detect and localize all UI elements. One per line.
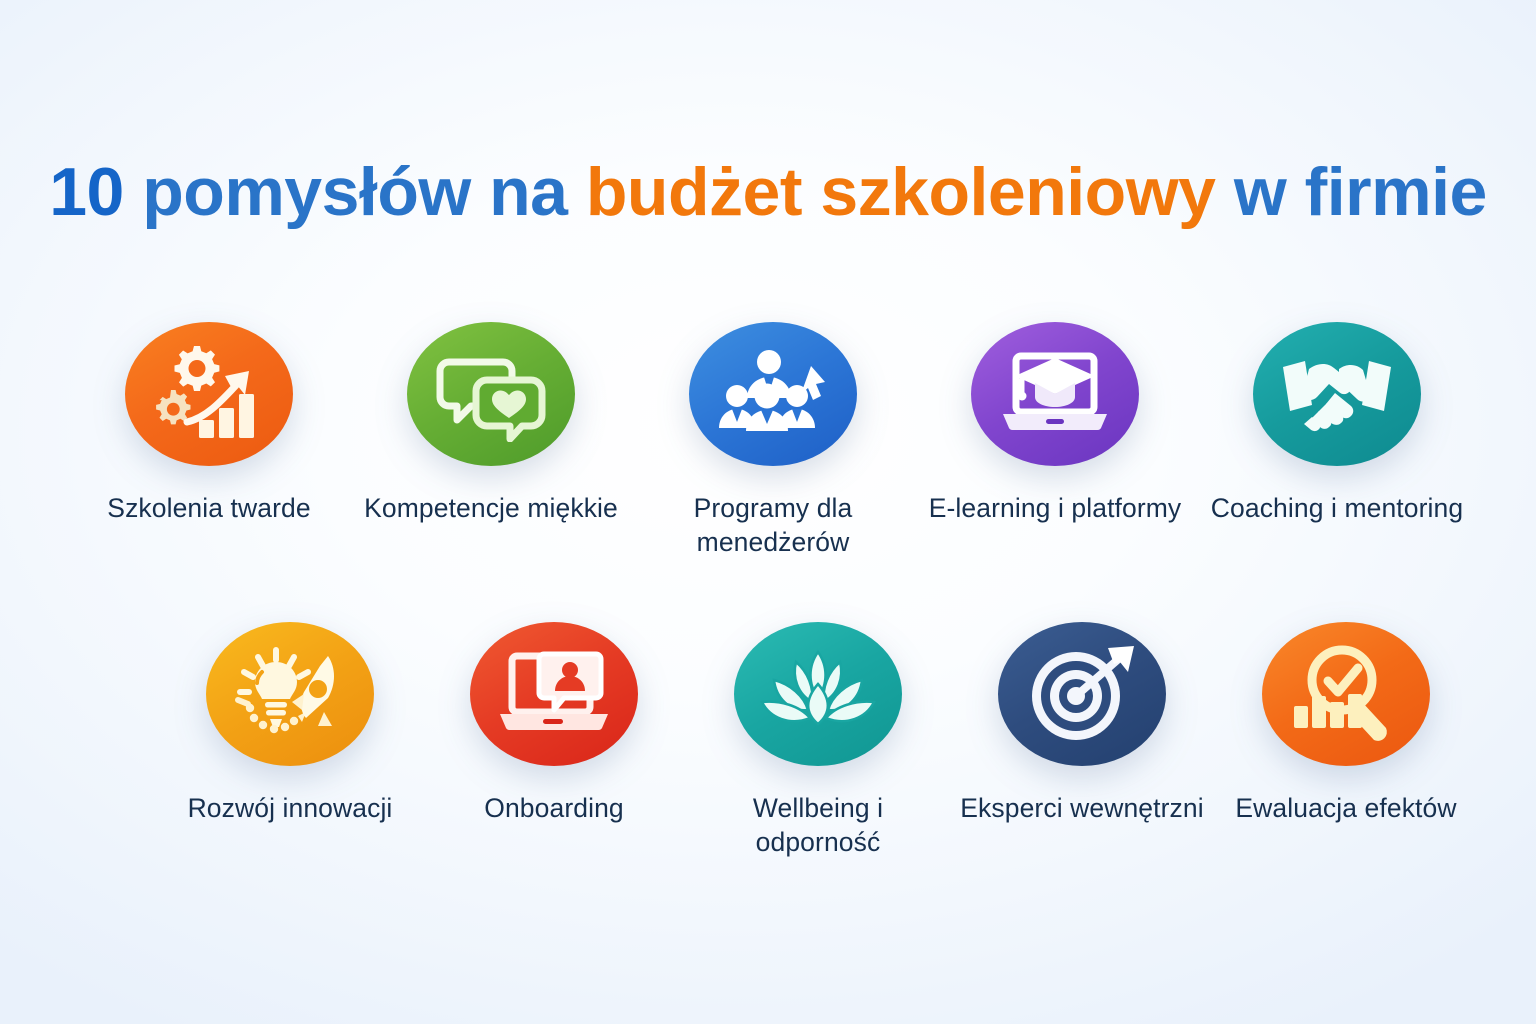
lotus-flower-icon	[734, 622, 902, 766]
item-eksperci-wewnetrzni[interactable]: Eksperci wewnętrzni	[950, 622, 1214, 826]
title-orange-part: budżet szkoleniowy	[586, 154, 1216, 230]
title-number: 10	[49, 154, 124, 230]
item-szkolenia-twarde[interactable]: Szkolenia twarde	[68, 322, 350, 526]
gears-growth-chart-icon	[125, 322, 293, 466]
item-label: Wellbeing i odporność	[688, 792, 948, 859]
item-label: E-learning i platformy	[929, 492, 1182, 526]
handshake-icon	[1253, 322, 1421, 466]
title-blue-part-2: w firmie	[1215, 154, 1486, 230]
team-arrow-icon	[689, 322, 857, 466]
item-label: Kompetencje miękkie	[364, 492, 618, 526]
item-kompetencje-miekkie[interactable]: Kompetencje miękkie	[350, 322, 632, 526]
speech-bubbles-heart-icon	[407, 322, 575, 466]
item-e-learning-i-platformy[interactable]: E-learning i platformy	[914, 322, 1196, 526]
title-blue-part-1: pomysłów na	[124, 154, 586, 230]
lightbulb-rocket-icon	[206, 622, 374, 766]
item-label: Coaching i mentoring	[1211, 492, 1463, 526]
icon-row-2: Rozwój innowacji Onboarding	[158, 622, 1478, 859]
item-label: Programy dla menedżerów	[643, 492, 903, 559]
icon-row-1: Szkolenia twarde Kompetencje miękkie	[68, 322, 1478, 559]
item-programy-dla-menedzerow[interactable]: Programy dla menedżerów	[632, 322, 914, 559]
item-label: Szkolenia twarde	[107, 492, 310, 526]
laptop-person-card-icon	[470, 622, 638, 766]
item-label: Onboarding	[484, 792, 624, 826]
item-label: Ewaluacja efektów	[1235, 792, 1456, 826]
item-ewaluacja-efektow[interactable]: Ewaluacja efektów	[1214, 622, 1478, 826]
item-rozwoj-innowacji[interactable]: Rozwój innowacji	[158, 622, 422, 826]
infographic-page: 10 pomysłów na budżet szkoleniowy w firm…	[0, 0, 1536, 1024]
item-wellbeing-i-odpornosc[interactable]: Wellbeing i odporność	[686, 622, 950, 859]
item-onboarding[interactable]: Onboarding	[422, 622, 686, 826]
item-label: Rozwój innowacji	[188, 792, 393, 826]
item-coaching-i-mentoring[interactable]: Coaching i mentoring	[1196, 322, 1478, 526]
page-title: 10 pomysłów na budżet szkoleniowy w firm…	[0, 158, 1536, 226]
magnifier-check-bars-icon	[1262, 622, 1430, 766]
item-label: Eksperci wewnętrzni	[960, 792, 1203, 826]
target-dart-icon	[998, 622, 1166, 766]
laptop-graduation-cap-icon	[971, 322, 1139, 466]
